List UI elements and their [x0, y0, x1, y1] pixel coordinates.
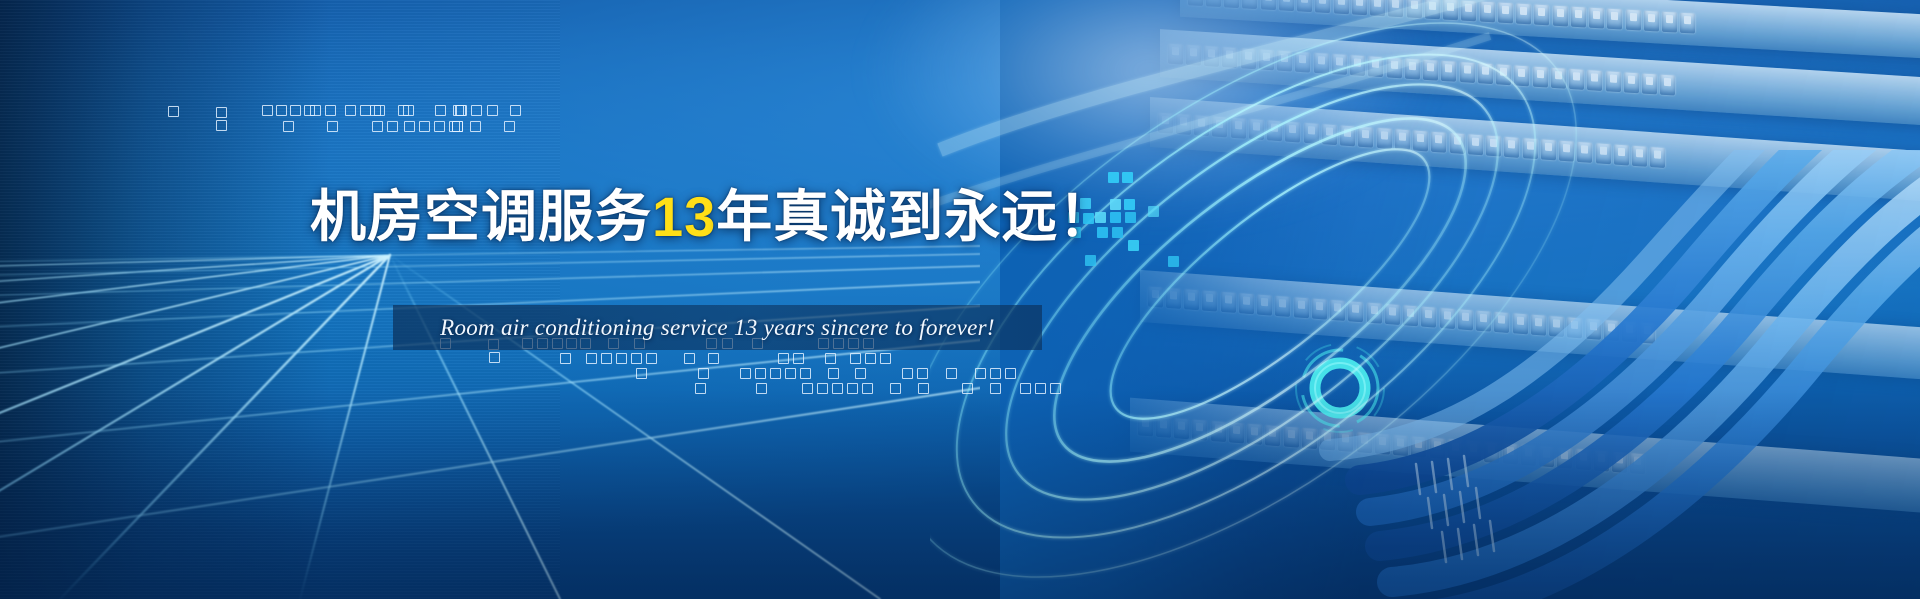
hero-banner: 机房空调服务13年真诚到永远！ Room air conditioning se… [0, 0, 1920, 599]
headline-number: 13 [652, 185, 716, 248]
subtitle-text: Room air conditioning service 13 years s… [393, 305, 1042, 350]
subtitle-band: Room air conditioning service 13 years s… [393, 305, 1042, 350]
headline-suffix: 年真诚到永远！ [716, 185, 1115, 248]
bottom-vignette [0, 389, 1920, 599]
page-title: 机房空调服务13年真诚到永远！ [310, 172, 1115, 253]
headline-prefix: 机房空调服务 [310, 185, 652, 248]
